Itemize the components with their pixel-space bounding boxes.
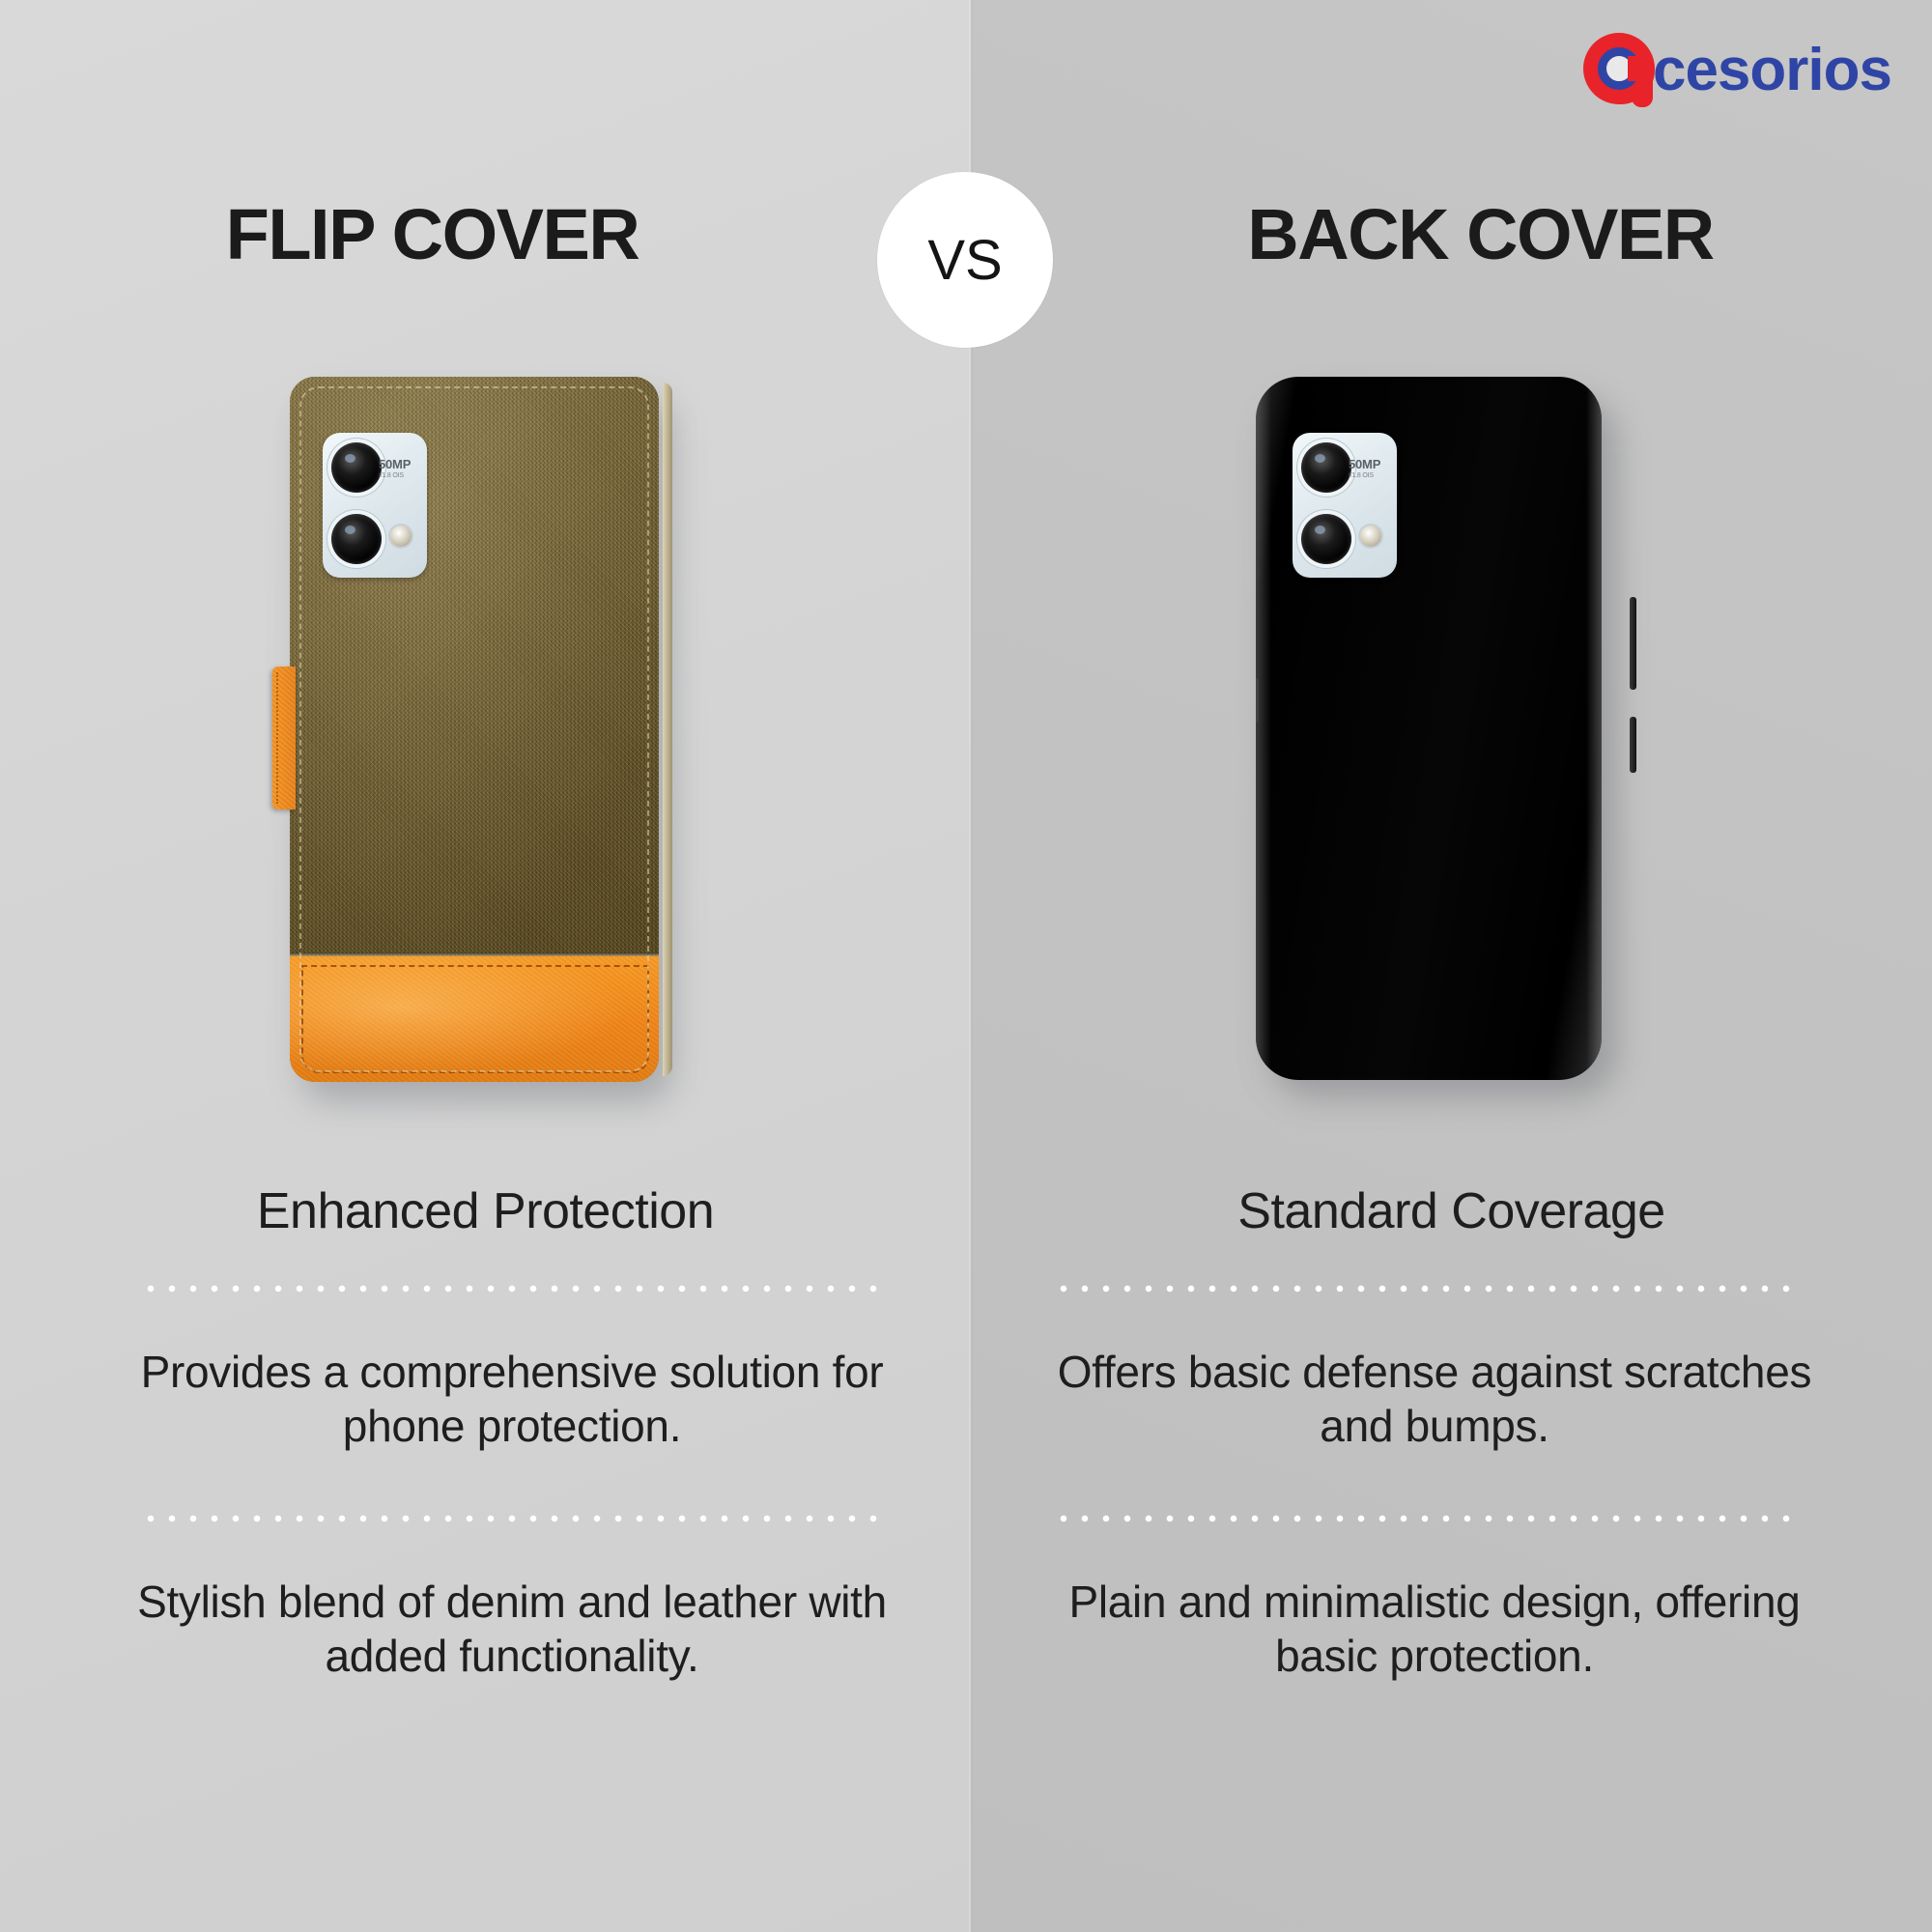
vs-label: VS — [927, 228, 1002, 293]
right-heading: BACK COVER — [971, 199, 1932, 270]
camera-lens-primary — [331, 442, 382, 493]
left-feature-1: Provides a comprehensive solution for ph… — [101, 1345, 923, 1453]
right-divider-2 — [1053, 1515, 1797, 1522]
left-product-stage: 50MP f/1.8 OIS — [0, 377, 971, 1130]
camera-aperture-label: f/1.8 OIS — [1349, 472, 1395, 479]
camera-lens-secondary — [331, 514, 382, 564]
flip-cover-flap-edge — [663, 383, 672, 1076]
right-product-stage: 50MP f/1.8 OIS — [971, 377, 1932, 1130]
camera-flash-icon — [390, 526, 412, 547]
case-side-notch — [1256, 678, 1259, 723]
leather-stitching — [301, 965, 649, 1073]
camera-spec-text: 50MP f/1.8 OIS — [1349, 458, 1395, 479]
camera-module: 50MP f/1.8 OIS — [323, 433, 427, 578]
brand-logo-text: cesorios — [1653, 41, 1891, 100]
leather-panel — [290, 956, 659, 1082]
left-feature-2: Stylish blend of denim and leather with … — [101, 1575, 923, 1683]
back-cover-phone-case[interactable]: 50MP f/1.8 OIS — [1256, 377, 1633, 1092]
vs-badge: VS — [877, 172, 1053, 348]
left-divider-1 — [140, 1285, 884, 1293]
right-feature-1: Offers basic defense against scratches a… — [1024, 1345, 1845, 1453]
acesorios-logo-icon — [1583, 33, 1655, 104]
volume-button-cutout — [1630, 597, 1636, 690]
left-heading: FLIP COVER — [0, 199, 971, 270]
camera-megapixel-label: 50MP — [379, 458, 425, 471]
flip-cover-body: 50MP f/1.8 OIS — [290, 377, 659, 1082]
camera-lens-secondary — [1301, 514, 1351, 564]
right-feature-2: Plain and minimalistic design, offering … — [1024, 1575, 1845, 1683]
camera-spec-text: 50MP f/1.8 OIS — [379, 458, 425, 479]
camera-megapixel-label: 50MP — [1349, 458, 1395, 471]
brand-logo[interactable]: cesorios — [1583, 27, 1891, 110]
infographic-canvas: cesorios FLIP COVER BACK COVER VS — [0, 0, 1932, 1932]
left-subheading: Enhanced Protection — [0, 1186, 971, 1236]
flip-cover-phone-case[interactable]: 50MP f/1.8 OIS — [290, 377, 667, 1092]
back-cover-body: 50MP f/1.8 OIS — [1256, 377, 1602, 1080]
camera-module: 50MP f/1.8 OIS — [1293, 433, 1397, 578]
left-divider-2 — [140, 1515, 884, 1522]
camera-flash-icon — [1360, 526, 1381, 547]
power-button-cutout — [1630, 717, 1636, 773]
camera-lens-primary — [1301, 442, 1351, 493]
right-subheading: Standard Coverage — [971, 1186, 1932, 1236]
right-divider-1 — [1053, 1285, 1797, 1293]
camera-aperture-label: f/1.8 OIS — [379, 472, 425, 479]
flip-cover-magnetic-tab — [272, 667, 296, 810]
